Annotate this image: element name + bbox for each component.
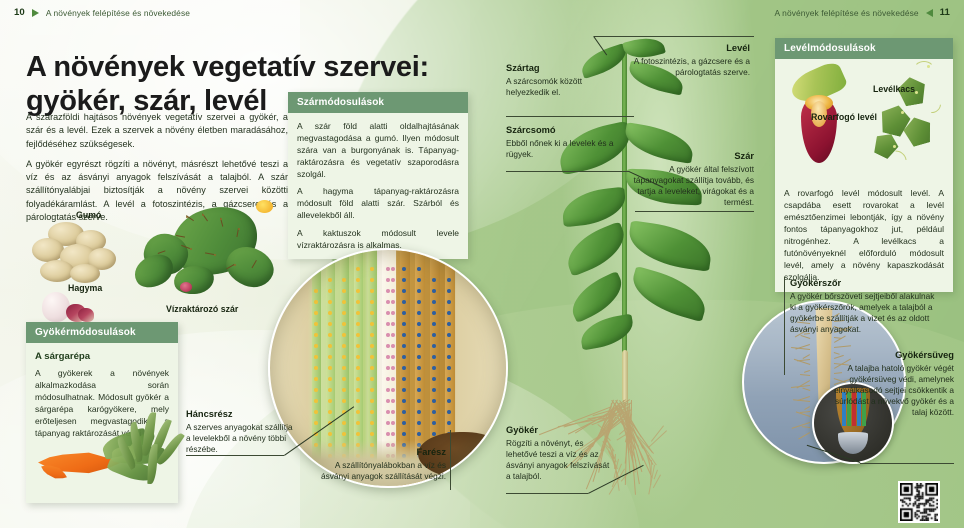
callout-gyokerszor-title: Gyökérszőr (790, 277, 940, 289)
tendril-illustration (867, 59, 945, 181)
callout-gyoker: Gyökér Rögzíti a növényt, és lehetővé te… (506, 424, 616, 482)
stem-mods-paragraph-1: A szár föld alatti oldalhajtásának megva… (297, 120, 459, 180)
leader-rule-level (594, 36, 754, 37)
stem-modifications-body: A szár föld alatti oldalhajtásának megva… (288, 113, 468, 259)
root-modifications-header: Gyökérmódosulások (26, 322, 178, 343)
running-head-right-text: A növények felépítése és növekedése (775, 8, 919, 18)
qr-code-icon[interactable] (898, 481, 940, 523)
triangle-right-icon (32, 9, 39, 17)
running-head-left-text: A növények felépítése és növekedése (46, 8, 190, 18)
root-mods-subtitle: A sárgarépa (35, 350, 169, 364)
triangle-left-icon (926, 9, 933, 17)
intro-paragraph-1: A szárazföldi hajtásos növények vegetatí… (26, 111, 288, 151)
page-number-left: 10 (14, 7, 25, 18)
callout-szarcsomo-text: Ebből nőnek ki a levelek és a rügyek. (506, 138, 613, 159)
running-head-left: 10 A növények felépítése és növekedése (14, 7, 190, 18)
callout-gyoker-text: Rögzíti a növényt, és lehetővé teszi a v… (506, 438, 609, 481)
callout-gyokerszor: Gyökérszőr A gyökér bőrszöveti sejtjeibő… (790, 277, 940, 335)
callout-szar: Szár A gyökér által felszívott tápanyago… (622, 150, 754, 208)
callout-szartag-text: A szárcsomók között helyezkedik el. (506, 76, 582, 97)
callout-hancsresz: Háncsrész A szerves anyagokat szállítja … (186, 408, 298, 455)
leader-rule-szartag (506, 116, 634, 117)
leader-rule-faresz (450, 430, 451, 490)
label-vizraktarozo-szar: Vízraktározó szár (166, 304, 238, 314)
leader-rule-gyokerszor (784, 277, 785, 375)
stem-mods-paragraph-3: A kaktuszok módosult levele vízraktározá… (297, 227, 459, 251)
page-number-right: 11 (940, 7, 950, 18)
callout-szar-text: A gyökér által felszívott tápanyagokat s… (634, 164, 754, 207)
leader-rule-gyokersuveg (860, 463, 954, 464)
label-hagyma: Hagyma (68, 283, 102, 293)
callout-level: Levél A fotoszintézis, a gázcsere és a p… (630, 42, 750, 78)
callout-szarcsomo-title: Szárcsomó (506, 124, 634, 136)
callout-level-text: A fotoszintézis, a gázcsere és a párolog… (634, 56, 750, 77)
callout-gyokerszor-text: A gyökér bőrszöveti sejtjeiből alakulnak… (790, 291, 934, 334)
callout-hancsresz-title: Háncsrész (186, 408, 298, 420)
leaf-modifications-header: Levélmódosulások (775, 38, 953, 59)
callout-gyokersuveg: Gyökérsüveg A talajba hatoló gyökér végé… (818, 349, 954, 419)
callout-szar-title: Szár (622, 150, 754, 162)
callout-level-title: Levél (630, 42, 750, 54)
label-gumo: Gumó (76, 210, 101, 220)
callout-faresz: Farész A szállítónyalábokban a víz és ás… (308, 446, 446, 482)
callout-szarcsomo: Szárcsomó Ebből nőnek ki a levelek és a … (506, 124, 634, 160)
label-rovarfogo-level: Rovarfogó levél (811, 111, 877, 123)
stem-modifications-box: Szármódosulások A szár föld alatti oldal… (288, 92, 468, 259)
callout-faresz-text: A szállítónyalábokban a víz és ásványi a… (321, 460, 446, 481)
callout-gyokersuveg-title: Gyökérsüveg (818, 349, 954, 361)
leaf-modifications-body: Levélkacs Rovarfogó levél A rovarfogó le… (775, 59, 953, 292)
stem-mods-paragraph-2: A hagyma tápanyag-raktározásra módosult … (297, 185, 459, 221)
running-head-right: A növények felépítése és növekedése 11 (775, 7, 950, 18)
leader-rule-szar (635, 211, 754, 212)
potato-illustration (30, 222, 122, 284)
textbook-spread: 10 A növények felépítése és növekedése A… (0, 0, 964, 528)
leader-rule-hancsresz (186, 455, 284, 456)
leaf-modifications-box: Levélmódosulások Le (775, 38, 953, 292)
leader-rule-gyoker (506, 493, 588, 494)
cactus-illustration (130, 200, 290, 310)
callout-szartag-title: Szártag (506, 62, 626, 74)
callout-gyokersuveg-text: A talajba hatoló gyökér végét gyökérsüve… (834, 363, 954, 417)
stem-modifications-header: Szármódosulások (288, 92, 468, 113)
fern-illustration (122, 412, 192, 492)
callout-gyoker-title: Gyökér (506, 424, 616, 436)
callout-szartag: Szártag A szárcsomók között helyezkedik … (506, 62, 626, 98)
label-levelkacs: Levélkacs (873, 83, 915, 95)
leaf-mods-paragraph-1: A rovarfogó levél módosult levél. A csap… (784, 187, 944, 284)
callout-faresz-title: Farész (308, 446, 446, 458)
callout-hancsresz-text: A szerves anyagokat szállítja a levelekb… (186, 422, 293, 454)
leader-rule-szarcsomo (506, 171, 629, 172)
